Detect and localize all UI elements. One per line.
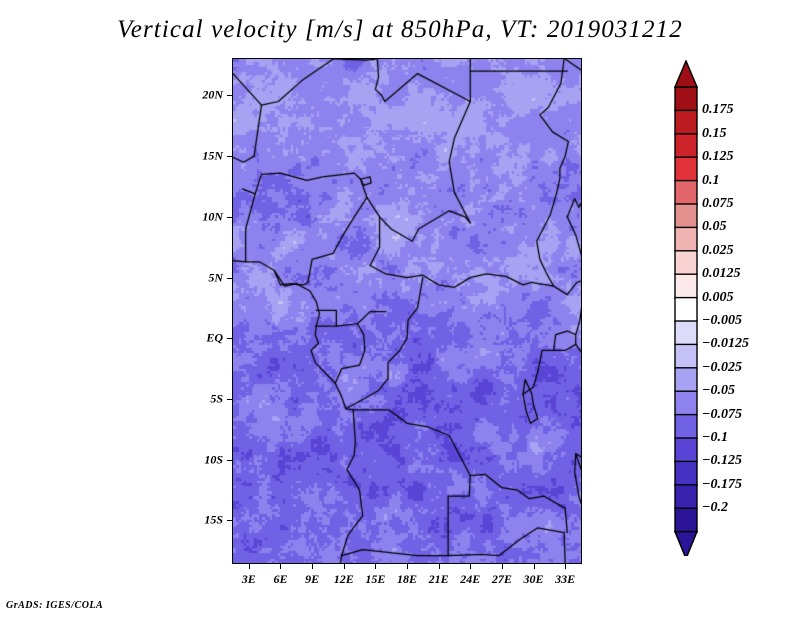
colorbar-tick-label: −0.0125 (702, 336, 749, 352)
x-axis-tick (439, 563, 440, 569)
colorbar-top-arrow (675, 61, 697, 87)
colorbar-tick-label: 0.005 (702, 290, 734, 306)
colorbar (672, 60, 702, 556)
colorbar-band (675, 204, 697, 228)
colorbar-tick-label: 0.175 (702, 102, 734, 118)
vertical-velocity-heatmap (233, 59, 581, 563)
y-axis-label: 15S (185, 513, 223, 528)
colorbar-band (675, 508, 697, 532)
x-axis-label: 15E (365, 572, 385, 587)
grads-credit: GrADS: IGES/COLA (6, 600, 103, 611)
x-axis-tick (344, 563, 345, 569)
y-axis-tick (227, 460, 233, 461)
colorbar-tick-label: 0.125 (702, 149, 734, 165)
x-axis-tick (407, 563, 408, 569)
x-axis-label: 3E (242, 572, 256, 587)
map-plot-area (232, 58, 582, 564)
x-axis-label: 9E (305, 572, 319, 587)
colorbar-band (675, 274, 697, 298)
colorbar-tick-label: 0.075 (702, 196, 734, 212)
colorbar-tick-label: 0.1 (702, 173, 720, 189)
x-axis-label: 30E (524, 572, 544, 587)
colorbar-tick-label: 0.025 (702, 243, 734, 259)
colorbar-tick-label: 0.0125 (702, 266, 741, 282)
colorbar-tick-label: 0.15 (702, 126, 727, 142)
colorbar-tick-label: −0.2 (702, 500, 728, 516)
x-axis-label: 24E (460, 572, 480, 587)
y-axis-label: 15N (185, 149, 223, 164)
y-axis-label: 20N (185, 88, 223, 103)
x-axis-tick (502, 563, 503, 569)
colorbar-tick-label: −0.075 (702, 407, 742, 423)
colorbar-tick-label: −0.025 (702, 360, 742, 376)
colorbar-band (675, 391, 697, 415)
y-axis-tick (227, 520, 233, 521)
x-axis-label: 12E (334, 572, 354, 587)
y-axis-tick (227, 338, 233, 339)
y-axis-label: 10S (185, 452, 223, 467)
y-axis-tick (227, 156, 233, 157)
x-axis-tick (565, 563, 566, 569)
x-axis-tick (534, 563, 535, 569)
y-axis-tick (227, 278, 233, 279)
y-axis-tick (227, 95, 233, 96)
colorbar-tick-label: −0.005 (702, 313, 742, 329)
colorbar-band (675, 461, 697, 485)
colorbar-tick-label: −0.175 (702, 477, 742, 493)
colorbar-band (675, 110, 697, 134)
x-axis-tick (280, 563, 281, 569)
y-axis-label: EQ (185, 331, 223, 346)
colorbar-band (675, 157, 697, 181)
colorbar-band (675, 415, 697, 439)
x-axis-label: 6E (273, 572, 287, 587)
x-axis-label: 21E (429, 572, 449, 587)
colorbar-bottom-arrow (675, 532, 697, 556)
colorbar-band (675, 227, 697, 251)
colorbar-band (675, 321, 697, 345)
y-axis-label: 5S (185, 392, 223, 407)
x-axis-label: 27E (492, 572, 512, 587)
colorbar-band (675, 134, 697, 158)
colorbar-tick-label: −0.1 (702, 430, 728, 446)
colorbar-tick-label: −0.05 (702, 383, 735, 399)
colorbar-band (675, 485, 697, 509)
colorbar-band (675, 298, 697, 322)
y-axis-label: 10N (185, 209, 223, 224)
colorbar-band (675, 181, 697, 205)
colorbar-tick-label: 0.05 (702, 219, 727, 235)
page-title: Vertical velocity [m/s] at 850hPa, VT: 2… (0, 16, 800, 44)
colorbar-band (675, 438, 697, 462)
x-axis-label: 18E (397, 572, 417, 587)
colorbar-band (675, 368, 697, 392)
y-axis-label: 5N (185, 270, 223, 285)
colorbar-tick-label: −0.125 (702, 453, 742, 469)
colorbar-band (675, 87, 697, 111)
y-axis-tick (227, 217, 233, 218)
x-axis-tick (312, 563, 313, 569)
y-axis-tick (227, 399, 233, 400)
colorbar-band (675, 344, 697, 368)
x-axis-label: 33E (555, 572, 575, 587)
x-axis-tick (375, 563, 376, 569)
x-axis-tick (470, 563, 471, 569)
colorbar-band (675, 251, 697, 275)
x-axis-tick (249, 563, 250, 569)
